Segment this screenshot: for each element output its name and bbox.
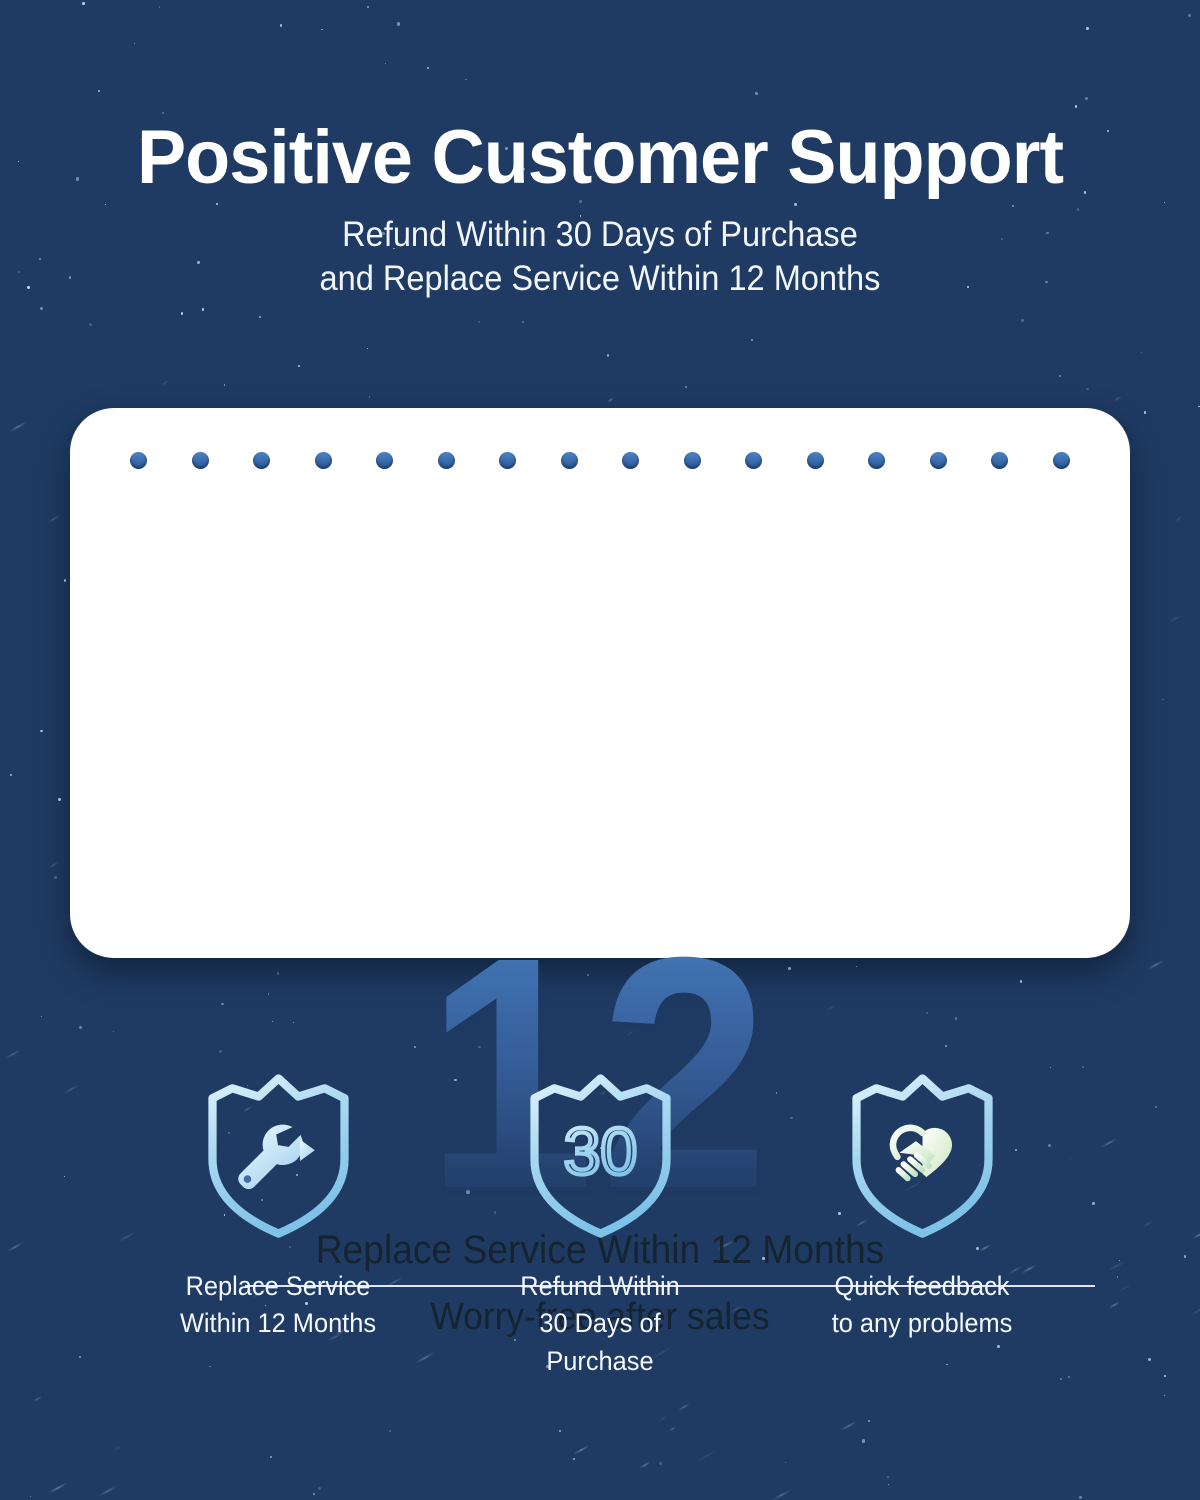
star-particle <box>54 876 57 879</box>
star-particle <box>887 1476 889 1478</box>
star-particle <box>40 307 43 310</box>
badge-number: 30 <box>563 1114 636 1188</box>
star-particle <box>659 1462 662 1465</box>
badge-caption-line-2: Within 12 Months <box>179 1305 376 1342</box>
streak-particle <box>6 1050 21 1059</box>
badge-quick-feedback: Quick feedback to any problems <box>817 1070 1027 1343</box>
star-particle <box>298 365 300 367</box>
binder-hole <box>1053 452 1070 469</box>
star-particle <box>1164 1395 1165 1396</box>
binder-hole <box>622 452 639 469</box>
star-particle <box>1021 319 1024 322</box>
star-particle <box>367 6 369 8</box>
star-particle <box>862 1439 865 1442</box>
streak-particle <box>1174 516 1181 521</box>
star-particle <box>134 43 135 44</box>
star-particle <box>1079 1496 1082 1499</box>
shield-handshake-icon <box>840 1070 1005 1242</box>
binder-hole <box>561 452 578 469</box>
badge-caption: Refund Within 30 Days of Purchase <box>501 1268 698 1380</box>
star-particle <box>181 312 184 315</box>
subtitle-line-1: Refund Within 30 Days of Purchase <box>42 213 1158 257</box>
streak-particle <box>10 422 26 432</box>
badge-caption-line-2: 30 Days of Purchase <box>501 1305 698 1380</box>
streak-particle <box>161 380 169 386</box>
star-particle <box>785 1462 786 1463</box>
streak-particle <box>33 1396 42 1402</box>
binder-hole <box>253 452 270 469</box>
shield-30-icon: 30 <box>518 1070 683 1242</box>
star-particle <box>41 1016 42 1017</box>
binder-hole <box>438 452 455 469</box>
badge-caption: Replace Service Within 12 Months <box>179 1268 376 1343</box>
badge-replace-service: Replace Service Within 12 Months <box>173 1070 383 1343</box>
streak-particle <box>607 397 614 402</box>
badge-caption-line-1: Refund Within <box>501 1268 698 1305</box>
binder-hole <box>315 452 332 469</box>
star-particle <box>58 798 61 801</box>
star-particle <box>159 6 161 8</box>
binder-hole <box>807 452 824 469</box>
star-particle <box>89 323 92 326</box>
star-particle <box>1188 14 1191 17</box>
star-particle <box>30 1496 31 1497</box>
star-particle <box>751 339 753 341</box>
binder-hole <box>192 452 209 469</box>
binder-holes <box>70 452 1130 469</box>
star-particle <box>1141 352 1142 353</box>
streak-particle <box>99 1485 118 1496</box>
star-particle <box>1162 699 1164 701</box>
star-particle <box>79 1026 82 1029</box>
star-particle <box>755 92 758 95</box>
star-particle <box>607 354 610 357</box>
star-particle <box>522 321 524 323</box>
star-particle <box>573 1458 575 1460</box>
header: Positive Customer Support Refund Within … <box>0 118 1200 301</box>
star-particle <box>1086 27 1088 29</box>
star-particle <box>82 2 85 5</box>
star-particle <box>280 24 282 26</box>
star-particle <box>1086 388 1089 391</box>
star-particle <box>465 79 467 81</box>
binder-hole <box>745 452 762 469</box>
badge-caption-line-1: Quick feedback <box>823 1268 1020 1305</box>
binder-hole <box>991 452 1008 469</box>
badge-refund: 30 Refund Within 30 Days of Purchase <box>495 1070 705 1380</box>
star-particle <box>1085 97 1088 100</box>
star-particle <box>40 730 43 733</box>
star-particle <box>321 29 323 31</box>
shield-wrench-icon <box>196 1070 361 1242</box>
streak-particle <box>48 861 58 868</box>
badge-caption-line-2: to any problems <box>823 1305 1020 1342</box>
star-particle <box>162 112 164 114</box>
star-particle <box>868 1420 870 1422</box>
streak-particle <box>639 1461 651 1468</box>
star-particle <box>888 1484 889 1485</box>
streak-particle <box>1168 615 1181 623</box>
star-particle <box>559 1430 561 1432</box>
star-particle <box>427 67 429 69</box>
star-particle <box>385 63 386 64</box>
streak-particle <box>574 1445 590 1455</box>
star-particle <box>270 1456 272 1458</box>
binder-hole <box>499 452 516 469</box>
star-particle <box>685 386 688 389</box>
streak-particle <box>678 1403 690 1410</box>
star-particle <box>318 1487 321 1490</box>
star-particle <box>313 1493 315 1495</box>
binder-hole <box>130 452 147 469</box>
binder-hole <box>930 452 947 469</box>
binder-hole <box>684 452 701 469</box>
badge-caption-line-1: Replace Service <box>179 1268 376 1305</box>
star-particle <box>369 396 371 398</box>
star-particle <box>259 316 261 318</box>
badge-caption: Quick feedback to any problems <box>823 1268 1020 1343</box>
streak-particle <box>658 1416 667 1422</box>
star-particle <box>64 579 67 582</box>
badge-row: Replace Service Within 12 Months 30 Refu… <box>0 1070 1200 1380</box>
warranty-card: 12 Replace Service Within 12 Months Worr… <box>70 408 1130 958</box>
star-particle <box>1144 411 1147 414</box>
star-particle <box>397 22 400 25</box>
star-particle <box>224 384 226 386</box>
star-particle <box>1075 105 1078 108</box>
binder-hole <box>868 452 885 469</box>
page-subtitle: Refund Within 30 Days of Purchase and Re… <box>42 213 1158 301</box>
star-particle <box>98 90 100 92</box>
star-particle <box>1059 375 1061 377</box>
star-particle <box>10 774 12 776</box>
star-particle <box>389 1430 391 1432</box>
binder-hole <box>376 452 393 469</box>
star-particle <box>202 308 205 311</box>
streak-particle <box>1113 396 1121 402</box>
streak-particle <box>697 1451 716 1463</box>
subtitle-line-2: and Replace Service Within 12 Months <box>42 257 1158 301</box>
star-particle <box>367 348 368 349</box>
page-title: Positive Customer Support <box>18 118 1182 199</box>
streak-particle <box>1148 960 1164 970</box>
streak-particle <box>771 1489 791 1500</box>
poster-root: Positive Customer Support Refund Within … <box>0 0 1200 1500</box>
streak-particle <box>47 515 61 523</box>
streak-particle <box>113 1445 122 1451</box>
streak-particle <box>840 1420 858 1431</box>
star-particle <box>478 321 480 323</box>
streak-particle <box>49 1482 68 1493</box>
streak-particle <box>669 1426 676 1431</box>
